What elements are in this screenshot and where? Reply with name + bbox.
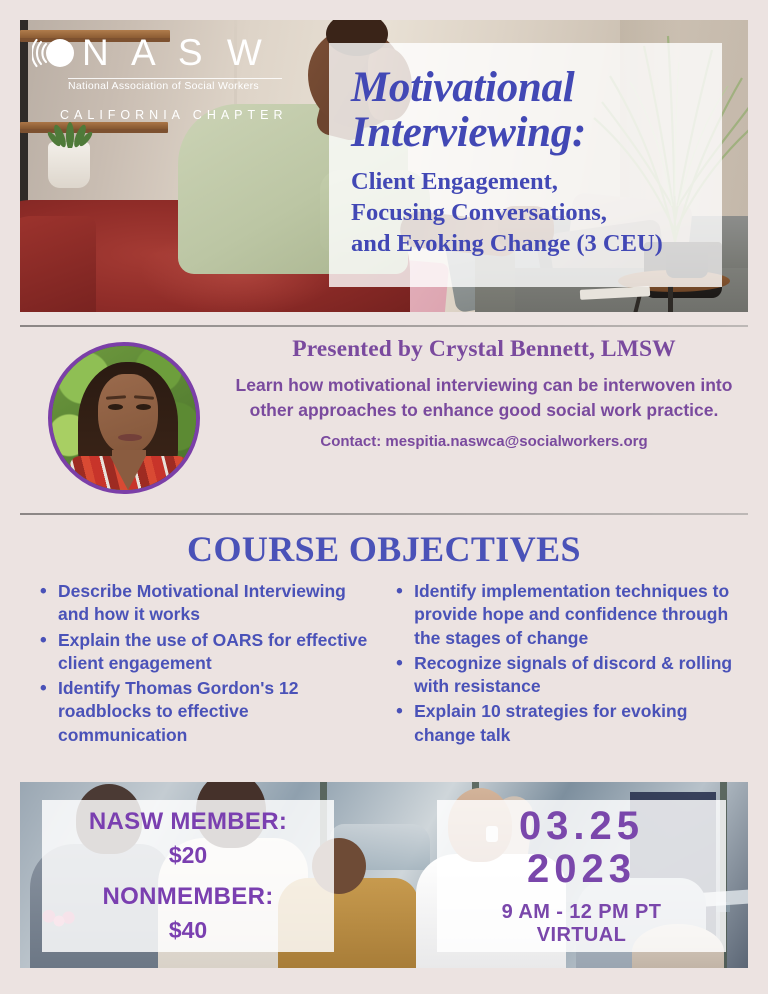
member-price-amount: $20	[169, 842, 207, 869]
objectives-column-right: Identify implementation techniques to pr…	[390, 580, 748, 749]
coffee-table-leg	[668, 286, 673, 312]
logo-rule	[68, 78, 282, 79]
nasw-tagline: National Association of Social Workers	[68, 80, 282, 92]
objectives-column-left: Describe Motivational Interviewing and h…	[20, 580, 378, 749]
session-blurb: Learn how motivational interviewing can …	[220, 373, 748, 423]
event-date-month-day: 03.25	[519, 805, 644, 848]
objective-item: Explain the use of OARS for effective cl…	[38, 629, 378, 676]
subtitle-line-2: Focusing Conversations,	[351, 198, 702, 229]
subtitle-line-3: and Evoking Change (3 CEU)	[351, 229, 702, 260]
plant-pot	[48, 142, 90, 188]
date-panel: 03.25 2023 9 AM - 12 PM PT VIRTUAL	[437, 800, 726, 952]
course-objectives-heading: COURSE OBJECTIVES	[0, 528, 768, 570]
armchair-arm	[20, 216, 96, 312]
avatar-lips	[118, 434, 142, 441]
presenter-text-block: Presented by Crystal Bennett, LMSW Learn…	[220, 336, 748, 450]
event-mode: VIRTUAL	[537, 924, 626, 947]
objective-item: Identify Thomas Gordon's 12 roadblocks t…	[38, 677, 378, 747]
event-date-year: 2023	[527, 848, 636, 891]
objectives-columns: Describe Motivational Interviewing and h…	[20, 580, 748, 749]
flyer-subtitle: Client Engagement, Focusing Conversation…	[351, 167, 702, 260]
avatar-eye-right	[136, 404, 151, 410]
nonmember-price-amount: $40	[169, 917, 207, 944]
objective-item: Describe Motivational Interviewing and h…	[38, 580, 378, 627]
objective-item: Explain 10 strategies for evoking change…	[394, 700, 748, 747]
title-line-1: Motivational	[351, 65, 702, 110]
hero-banner: N A S W National Association of Social W…	[20, 20, 748, 312]
nasw-circle-ripple-icon	[32, 30, 78, 76]
event-time: 9 AM - 12 PM PT	[502, 901, 662, 924]
presenter-section: Presented by Crystal Bennett, LMSW Learn…	[20, 332, 748, 508]
nasw-letters: N A S W	[82, 34, 269, 73]
presented-by-line: Presented by Crystal Bennett, LMSW	[220, 336, 748, 363]
divider-top	[20, 325, 748, 327]
nasw-logo: N A S W National Association of Social W…	[32, 30, 282, 125]
member-price-label: NASW MEMBER:	[89, 808, 287, 836]
bottom-banner: NASW MEMBER: $20 NONMEMBER: $40 03.25 20…	[20, 782, 748, 968]
flyer-title: Motivational Interviewing:	[351, 65, 702, 155]
nasw-chapter: CALIFORNIA CHAPTER	[60, 108, 282, 122]
pricing-panel: NASW MEMBER: $20 NONMEMBER: $40	[42, 800, 334, 952]
avatar	[48, 342, 200, 494]
avatar-face	[98, 374, 158, 454]
title-line-2: Interviewing:	[351, 110, 702, 155]
title-panel: Motivational Interviewing: Client Engage…	[329, 43, 722, 287]
objective-item: Identify implementation techniques to pr…	[394, 580, 748, 650]
flyer-root: N A S W National Association of Social W…	[0, 0, 768, 994]
subtitle-line-1: Client Engagement,	[351, 167, 702, 198]
objectives-list-right: Identify implementation techniques to pr…	[394, 580, 748, 747]
objectives-list-left: Describe Motivational Interviewing and h…	[38, 580, 378, 747]
divider-bottom	[20, 513, 748, 515]
avatar-eye-left	[108, 404, 123, 410]
objective-item: Recognize signals of discord & rolling w…	[394, 652, 748, 699]
contact-line[interactable]: Contact: mespitia.naswca@socialworkers.o…	[220, 433, 748, 450]
nonmember-price-label: NONMEMBER:	[103, 883, 274, 911]
